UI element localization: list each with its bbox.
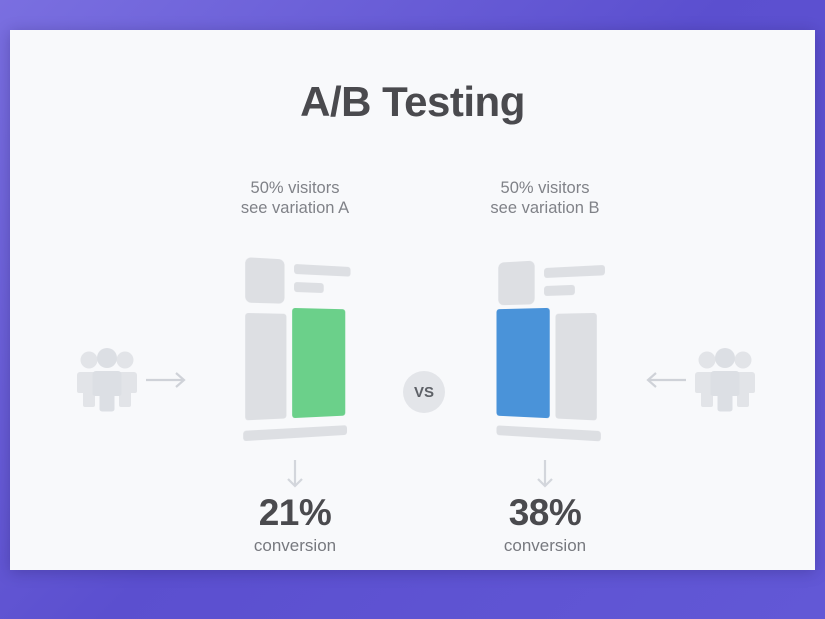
conversion-label-b: conversion — [420, 536, 670, 556]
mockup-panel-accent-green — [292, 308, 345, 418]
mockup-panel-accent-blue — [496, 308, 549, 418]
slide-card: A/B Testing 50% visitors see variation A — [10, 30, 815, 570]
variant-caption-a: 50% visitors see variation A — [170, 178, 420, 218]
arrow-left-icon — [640, 368, 690, 392]
variant-column-b: 50% visitors see variation B 38% convers… — [420, 178, 670, 556]
variation-b-page-mockup[interactable] — [486, 242, 609, 450]
arrow-down-icon-a — [170, 458, 420, 492]
mockup-panel-neutral — [245, 313, 286, 420]
mockup-text-line-short — [294, 282, 324, 293]
mockup-footer-bar — [496, 425, 600, 441]
people-group-icon — [690, 342, 760, 417]
mockup-text-line-long — [294, 264, 351, 277]
variant-caption-b: 50% visitors see variation B — [420, 178, 670, 218]
conversion-label-a: conversion — [170, 536, 420, 556]
variation-a-page-mockup[interactable] — [231, 242, 354, 450]
arrow-down-icon-b — [420, 458, 670, 492]
audience-group-right — [640, 342, 760, 417]
mockup-thumbnail-block — [498, 261, 534, 306]
people-group-icon — [72, 342, 142, 417]
mockup-thumbnail-block — [245, 257, 284, 304]
mockup-text-line-short — [544, 285, 575, 296]
conversion-value-b: 38% — [420, 492, 670, 534]
conversion-value-a: 21% — [170, 492, 420, 534]
mockup-text-line-long — [544, 265, 605, 278]
variant-column-a: 50% visitors see variation A 21% convers… — [170, 178, 420, 556]
mockup-footer-bar — [243, 425, 347, 441]
mockup-panel-neutral — [555, 313, 596, 421]
page-title: A/B Testing — [10, 78, 815, 126]
